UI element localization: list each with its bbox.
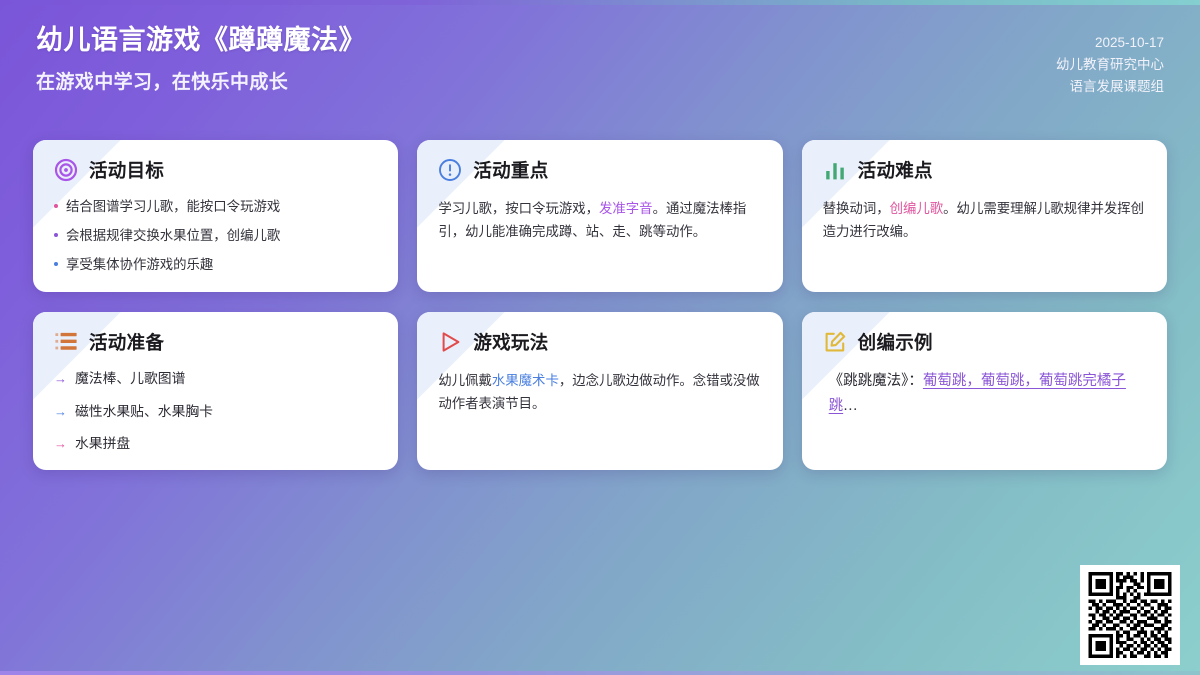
card-paragraph: 替换动词，创编儿歌。幼儿需要理解儿歌规律并发挥创造力进行改编。 [823,197,1146,243]
card-title: 活动准备 [89,329,164,355]
card-title: 创编示例 [858,329,933,355]
list-item-label: 享受集体协作游戏的乐趣 [66,255,213,275]
card-goals: 活动目标结合图谱学习儿歌，能按口令玩游戏会根据规律交换水果位置，创编儿歌享受集体… [33,140,398,292]
highlighted-term: 创编儿歌 [890,201,944,216]
bullet-list: 结合图谱学习儿歌，能按口令玩游戏会根据规律交换水果位置，创编儿歌享受集体协作游戏… [54,197,377,275]
card-difficulty: 活动难点替换动词，创编儿歌。幼儿需要理解儿歌规律并发挥创造力进行改编。 [802,140,1167,292]
header-meta: 2025-10-17 幼儿教育研究中心 语言发展课题组 [1056,22,1164,98]
list-item: 结合图谱学习儿歌，能按口令玩游戏 [54,197,377,217]
qr-code-icon [1087,572,1173,658]
card-title: 游戏玩法 [473,329,548,355]
card-inner: 游戏玩法幼儿佩戴水果魔术卡，边念儿歌边做动作。念错或没做动作者表演节目。 [438,329,761,415]
card-paragraph: 幼儿佩戴水果魔术卡，边念儿歌边做动作。念错或没做动作者表演节目。 [438,369,761,415]
card-title: 活动目标 [89,157,164,183]
card-header: 创编示例 [823,329,1146,355]
card-inner: 活动难点替换动词，创编儿歌。幼儿需要理解儿歌规律并发挥创造力进行改编。 [823,157,1146,243]
bullet-dot-icon [54,204,58,208]
list-item-label: 结合图谱学习儿歌，能按口令玩游戏 [66,197,280,217]
paragraph-text: 学习儿歌，按口令玩游戏， [438,201,599,216]
arrow-right-icon: → [54,369,67,389]
qr-code-panel[interactable] [1080,565,1180,665]
card-header: 活动准备 [54,329,377,355]
meta-group: 语言发展课题组 [1056,76,1164,98]
card-paragraph: 学习儿歌，按口令玩游戏，发准字音。通过魔法棒指引，幼儿能准确完成蹲、站、走、跳等… [438,197,761,243]
list-item-label: 水果拼盘 [75,434,130,455]
list-item: →水果拼盘 [54,434,377,455]
bullet-dot-icon [54,262,58,266]
list-item: →磁性水果贴、水果胸卡 [54,402,377,423]
card-header: 活动目标 [54,157,377,183]
list-item: 享受集体协作游戏的乐趣 [54,255,377,275]
arrow-right-icon: → [54,434,67,454]
list-item: 会根据规律交换水果位置，创编儿歌 [54,226,377,246]
bullet-dot-icon [54,233,58,237]
card-inner: 活动重点学习儿歌，按口令玩游戏，发准字音。通过魔法棒指引，幼儿能准确完成蹲、站、… [438,157,761,243]
card-header: 活动重点 [438,157,761,183]
page-subtitle: 在游戏中学习，在快乐中成长 [36,67,366,94]
play-triangle-icon [438,330,462,354]
bottom-accent-strip [0,671,1200,675]
card-preparation: 活动准备→魔法棒、儿歌图谱→磁性水果贴、水果胸卡→水果拼盘 [33,312,398,470]
page-header: 幼儿语言游戏《蹲蹲魔法》 在游戏中学习，在快乐中成长 2025-10-17 幼儿… [36,22,1164,98]
card-focus: 活动重点学习儿歌，按口令玩游戏，发准字音。通过魔法棒指引，幼儿能准确完成蹲、站、… [417,140,782,292]
arrow-list: →魔法棒、儿歌图谱→磁性水果贴、水果胸卡→水果拼盘 [54,369,377,455]
card-grid: 活动目标结合图谱学习儿歌，能按口令玩游戏会根据规律交换水果位置，创编儿歌享受集体… [33,140,1167,470]
example-ellipsis: … [843,398,858,414]
highlighted-term: 水果魔术卡 [492,373,559,388]
target-icon [54,158,78,182]
top-accent-strip [0,0,1200,5]
card-header: 游戏玩法 [438,329,761,355]
paragraph-text: 幼儿佩戴 [438,373,492,388]
page-title: 幼儿语言游戏《蹲蹲魔法》 [36,22,366,58]
list-icon [54,330,78,354]
paragraph-text: 替换动词， [823,201,890,216]
card-inner: 活动准备→魔法棒、儿歌图谱→磁性水果贴、水果胸卡→水果拼盘 [54,329,377,455]
list-item-label: 魔法棒、儿歌图谱 [75,369,185,390]
header-left: 幼儿语言游戏《蹲蹲魔法》 在游戏中学习，在快乐中成长 [36,22,366,94]
card-title: 活动难点 [858,157,933,183]
arrow-right-icon: → [54,402,67,422]
list-item: →魔法棒、儿歌图谱 [54,369,377,390]
example-line: 《跳跳魔法》：葡萄跳，葡萄跳，葡萄跳完橘子跳… [823,369,1146,418]
list-item-label: 会根据规律交换水果位置，创编儿歌 [66,226,280,246]
card-gameplay: 游戏玩法幼儿佩戴水果魔术卡，边念儿歌边做动作。念错或没做动作者表演节目。 [417,312,782,470]
bar-chart-icon [823,158,847,182]
meta-organization: 幼儿教育研究中心 [1056,54,1164,76]
list-item-label: 磁性水果贴、水果胸卡 [75,402,213,423]
meta-date: 2025-10-17 [1056,32,1164,54]
card-title: 活动重点 [473,157,548,183]
card-example: 创编示例《跳跳魔法》：葡萄跳，葡萄跳，葡萄跳完橘子跳… [802,312,1167,470]
card-inner: 创编示例《跳跳魔法》：葡萄跳，葡萄跳，葡萄跳完橘子跳… [823,329,1146,418]
highlighted-term: 发准字音 [599,201,653,216]
card-header: 活动难点 [823,157,1146,183]
edit-square-icon [823,330,847,354]
card-inner: 活动目标结合图谱学习儿歌，能按口令玩游戏会根据规律交换水果位置，创编儿歌享受集体… [54,157,377,275]
example-prefix: 《跳跳魔法》： [829,373,923,389]
info-circle-icon [438,158,462,182]
